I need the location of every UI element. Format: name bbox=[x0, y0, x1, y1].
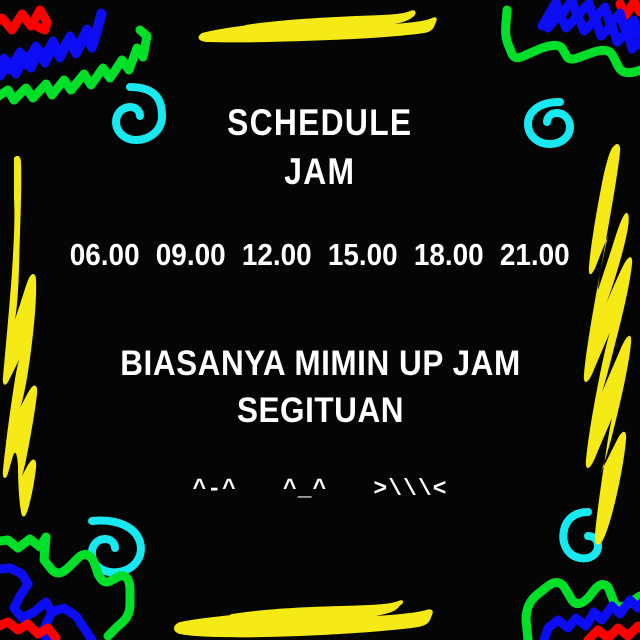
schedule-time-3: 12.00 bbox=[242, 238, 312, 272]
emoticon-row: ^-^ ^_^ >\\\< bbox=[193, 476, 448, 502]
message-line-2: SEGITUAN bbox=[120, 387, 520, 434]
schedule-time-6: 21.00 bbox=[500, 238, 570, 272]
schedule-time-2: 09.00 bbox=[156, 238, 226, 272]
schedule-times-row: 06.00 09.00 12.00 15.00 18.00 21.00 bbox=[70, 238, 570, 272]
emoticon-happy-1: ^-^ bbox=[193, 476, 237, 502]
schedule-time-4: 15.00 bbox=[328, 238, 398, 272]
heading-line-jam: JAM bbox=[227, 147, 412, 196]
poster-heading: SCHEDULE JAM bbox=[212, 98, 428, 196]
message-line-1: BIASANYA MIMIN UP JAM bbox=[120, 340, 520, 387]
poster-message: BIASANYA MIMIN UP JAM SEGITUAN bbox=[98, 340, 543, 434]
emoticon-happy-2: ^_^ bbox=[283, 476, 327, 502]
schedule-time-1: 06.00 bbox=[70, 238, 140, 272]
heading-line-schedule: SCHEDULE bbox=[227, 98, 412, 147]
schedule-time-5: 18.00 bbox=[414, 238, 484, 272]
poster-canvas: SCHEDULE JAM 06.00 09.00 12.00 15.00 18.… bbox=[0, 0, 640, 640]
emoticon-shy-3: >\\\< bbox=[373, 476, 447, 502]
poster-content: SCHEDULE JAM 06.00 09.00 12.00 15.00 18.… bbox=[0, 0, 640, 640]
